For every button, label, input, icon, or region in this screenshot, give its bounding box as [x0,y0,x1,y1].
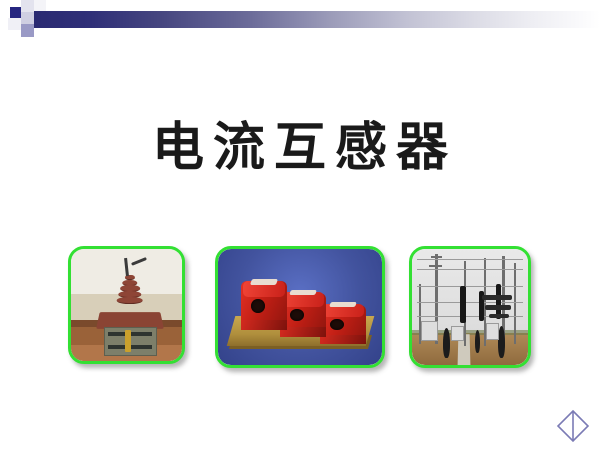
overhead-wire-3 [417,286,524,287]
slide-canvas: 电流互感器 [0,0,600,450]
ground-bushing-2 [498,326,505,358]
decor-square-pale-2 [21,12,34,24]
decor-square-periwinkle [21,24,34,37]
page-title: 电流互感器 [0,118,600,178]
equipment-cabinet-2 [451,326,463,342]
ct3-primary-aperture [330,319,344,330]
ct2-label-plate [289,290,317,295]
decor-square-navy [10,7,21,18]
resin-transformer-1 [241,281,287,330]
disconnect-blade-2 [485,305,511,310]
ct2-foot [280,327,326,337]
top-banner [0,0,600,46]
ct1-label-plate [250,279,278,285]
disconnect-blade-1 [482,295,512,300]
insulator-column-1 [460,286,466,323]
resin-transformer-2 [280,293,326,337]
disconnect-blade-3 [489,314,510,318]
insulator-stack [117,271,144,314]
image-indoor-current-transformer[interactable] [68,246,185,364]
image-row [0,246,600,372]
image-red-resin-current-transformers[interactable] [215,246,385,368]
base-latch [125,330,131,352]
decor-square-pale-4 [34,0,46,11]
overhead-wire-1 [417,259,524,260]
equipment-cabinet-1 [421,321,438,342]
image-1-content [71,249,182,361]
ct1-primary-aperture [251,299,265,313]
overhead-wire-4 [417,302,524,303]
image-3-content [412,249,528,365]
tower-crossarm-2 [429,265,442,267]
equipment-cabinet-3 [486,323,498,340]
tower-crossarm-1 [431,256,442,258]
ct3-label-plate [329,302,356,307]
image-2-content [218,249,382,365]
banner-gradient-bar [34,11,600,28]
resin-transformer-3 [320,305,366,344]
ground-bushing-3 [475,330,480,353]
diamond-logo[interactable] [556,409,590,443]
transformer-top-plate [96,312,164,329]
ct3-foot [320,335,366,344]
overhead-wire-2 [417,269,524,270]
image-outdoor-substation[interactable] [409,246,531,368]
ct1-foot [241,320,287,331]
decor-square-pale-3 [8,18,21,30]
support-pole-r3 [514,263,516,344]
insulator-fin-5 [117,297,144,304]
